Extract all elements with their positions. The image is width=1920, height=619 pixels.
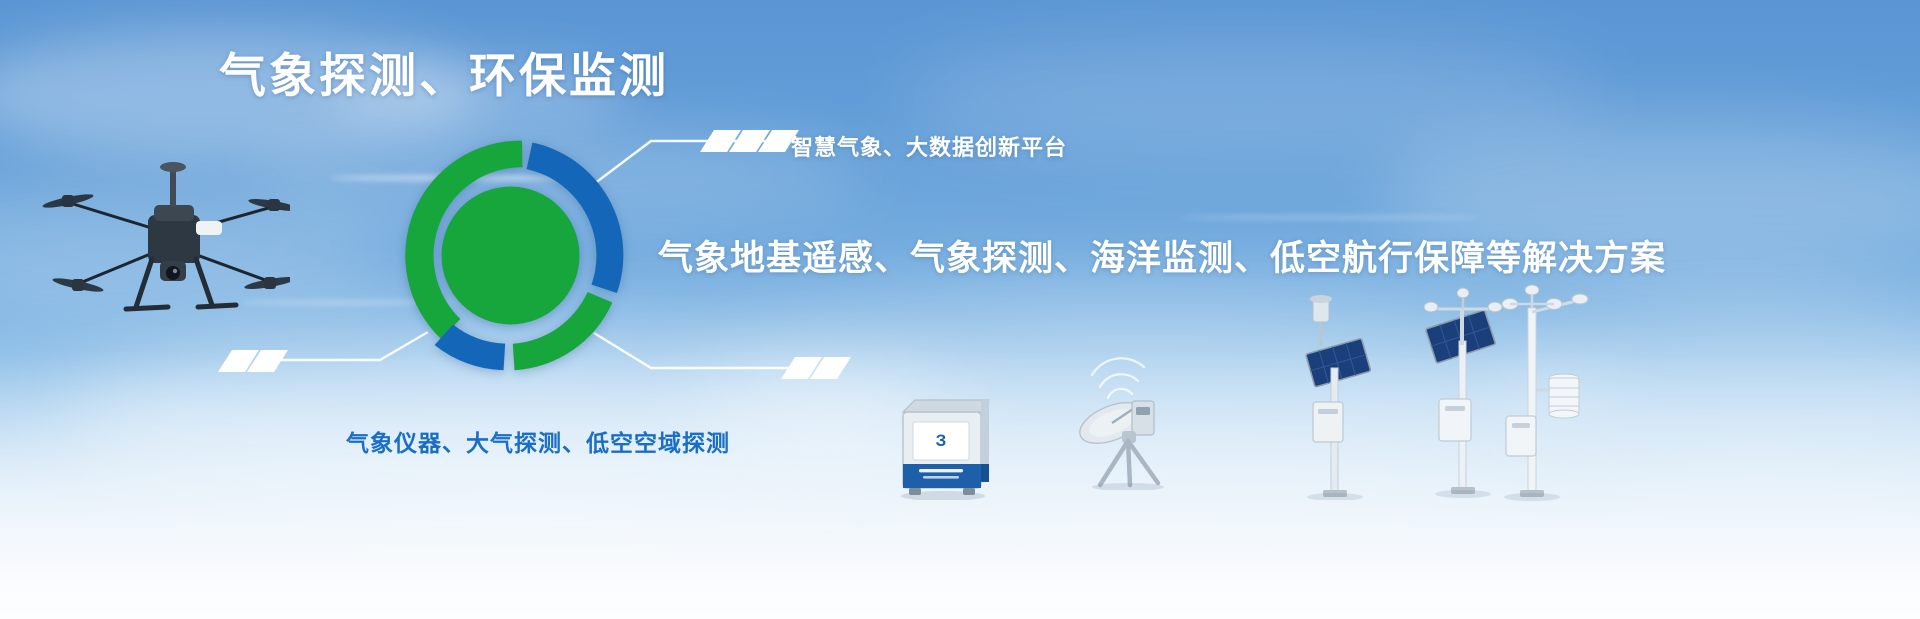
instrument-cabinet: З — [893, 390, 993, 500]
page-title: 气象探测、环保监测 — [219, 52, 669, 99]
ring-center-disc — [442, 187, 580, 325]
callout-label-main: 气象地基遥感、气象探测、海洋监测、低空航行保障等解决方案 — [658, 230, 1666, 281]
weather-detection-banner: 气象探测、环保监测 — [0, 0, 1920, 619]
anemometer-weather-mast — [1480, 278, 1590, 503]
callout-label-bottom: 气象仪器、大气探测、低空空域探测 — [346, 424, 730, 458]
cloud-streak — [1180, 215, 1480, 220]
svg-text:З: З — [936, 431, 947, 450]
callout-label-top: 智慧气象、大数据创新平台 — [791, 130, 1067, 162]
solar-powered-monitoring-station — [1285, 290, 1385, 500]
survey-drone — [40, 155, 290, 340]
radar-dish-tripod — [1070, 345, 1190, 490]
sensor-head — [1310, 295, 1332, 346]
segmented-donut-graphic — [388, 133, 633, 378]
